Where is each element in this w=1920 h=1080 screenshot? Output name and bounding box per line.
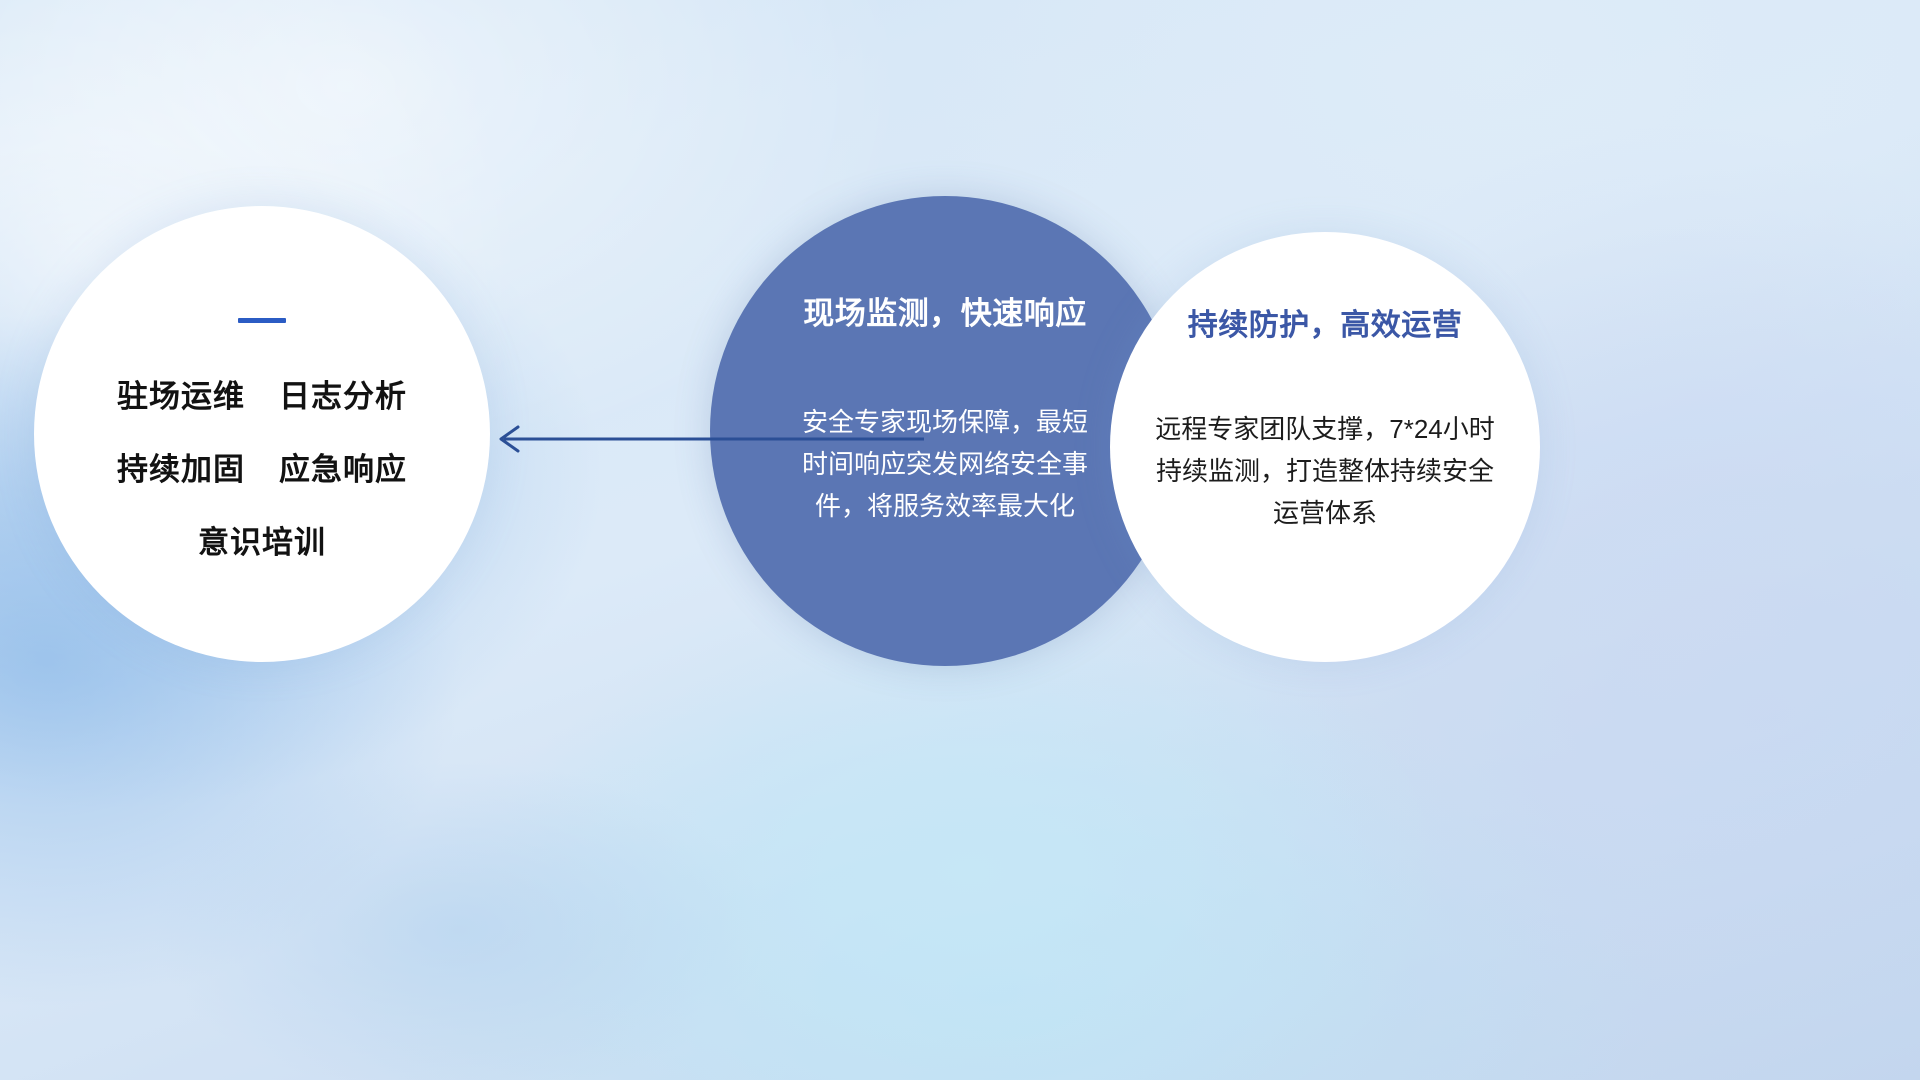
keyword-item: 持续加固 [117, 444, 245, 489]
keyword-item: 日志分析 [279, 371, 407, 416]
keyword-item: 意识培训 [198, 517, 326, 562]
middle-circle-body: 安全专家现场保障，最短时间响应突发网络安全事件，将服务效率最大化 [795, 401, 1095, 527]
keyword-row: 意识培训 [198, 517, 326, 562]
slide-canvas: 驻场运维 日志分析 持续加固 应急响应 意识培训 现场监测，快速响应 安全专家现… [0, 0, 1920, 1080]
keyword-row: 驻场运维 日志分析 [117, 371, 407, 416]
left-circle-content: 驻场运维 日志分析 持续加固 应急响应 意识培训 [34, 318, 490, 562]
keyword-item: 应急响应 [279, 444, 407, 489]
keyword-item: 驻场运维 [117, 371, 245, 416]
middle-circle-title: 现场监测，快速响应 [803, 288, 1087, 333]
background-blue-wash-bottom-left [150, 760, 770, 1080]
right-circle-body: 远程专家团队支撑，7*24小时持续监测，打造整体持续安全运营体系 [1150, 408, 1500, 534]
keyword-row: 持续加固 应急响应 [117, 444, 407, 489]
right-circle-title: 持续防护，高效运营 [1188, 300, 1463, 344]
right-circle-content: 持续防护，高效运营 远程专家团队支撑，7*24小时持续监测，打造整体持续安全运营… [1110, 300, 1540, 534]
right-service-circle: 持续防护，高效运营 远程专家团队支撑，7*24小时持续监测，打造整体持续安全运营… [1110, 232, 1540, 662]
accent-dash-divider [238, 318, 286, 323]
left-keyword-circle: 驻场运维 日志分析 持续加固 应急响应 意识培训 [34, 206, 490, 662]
